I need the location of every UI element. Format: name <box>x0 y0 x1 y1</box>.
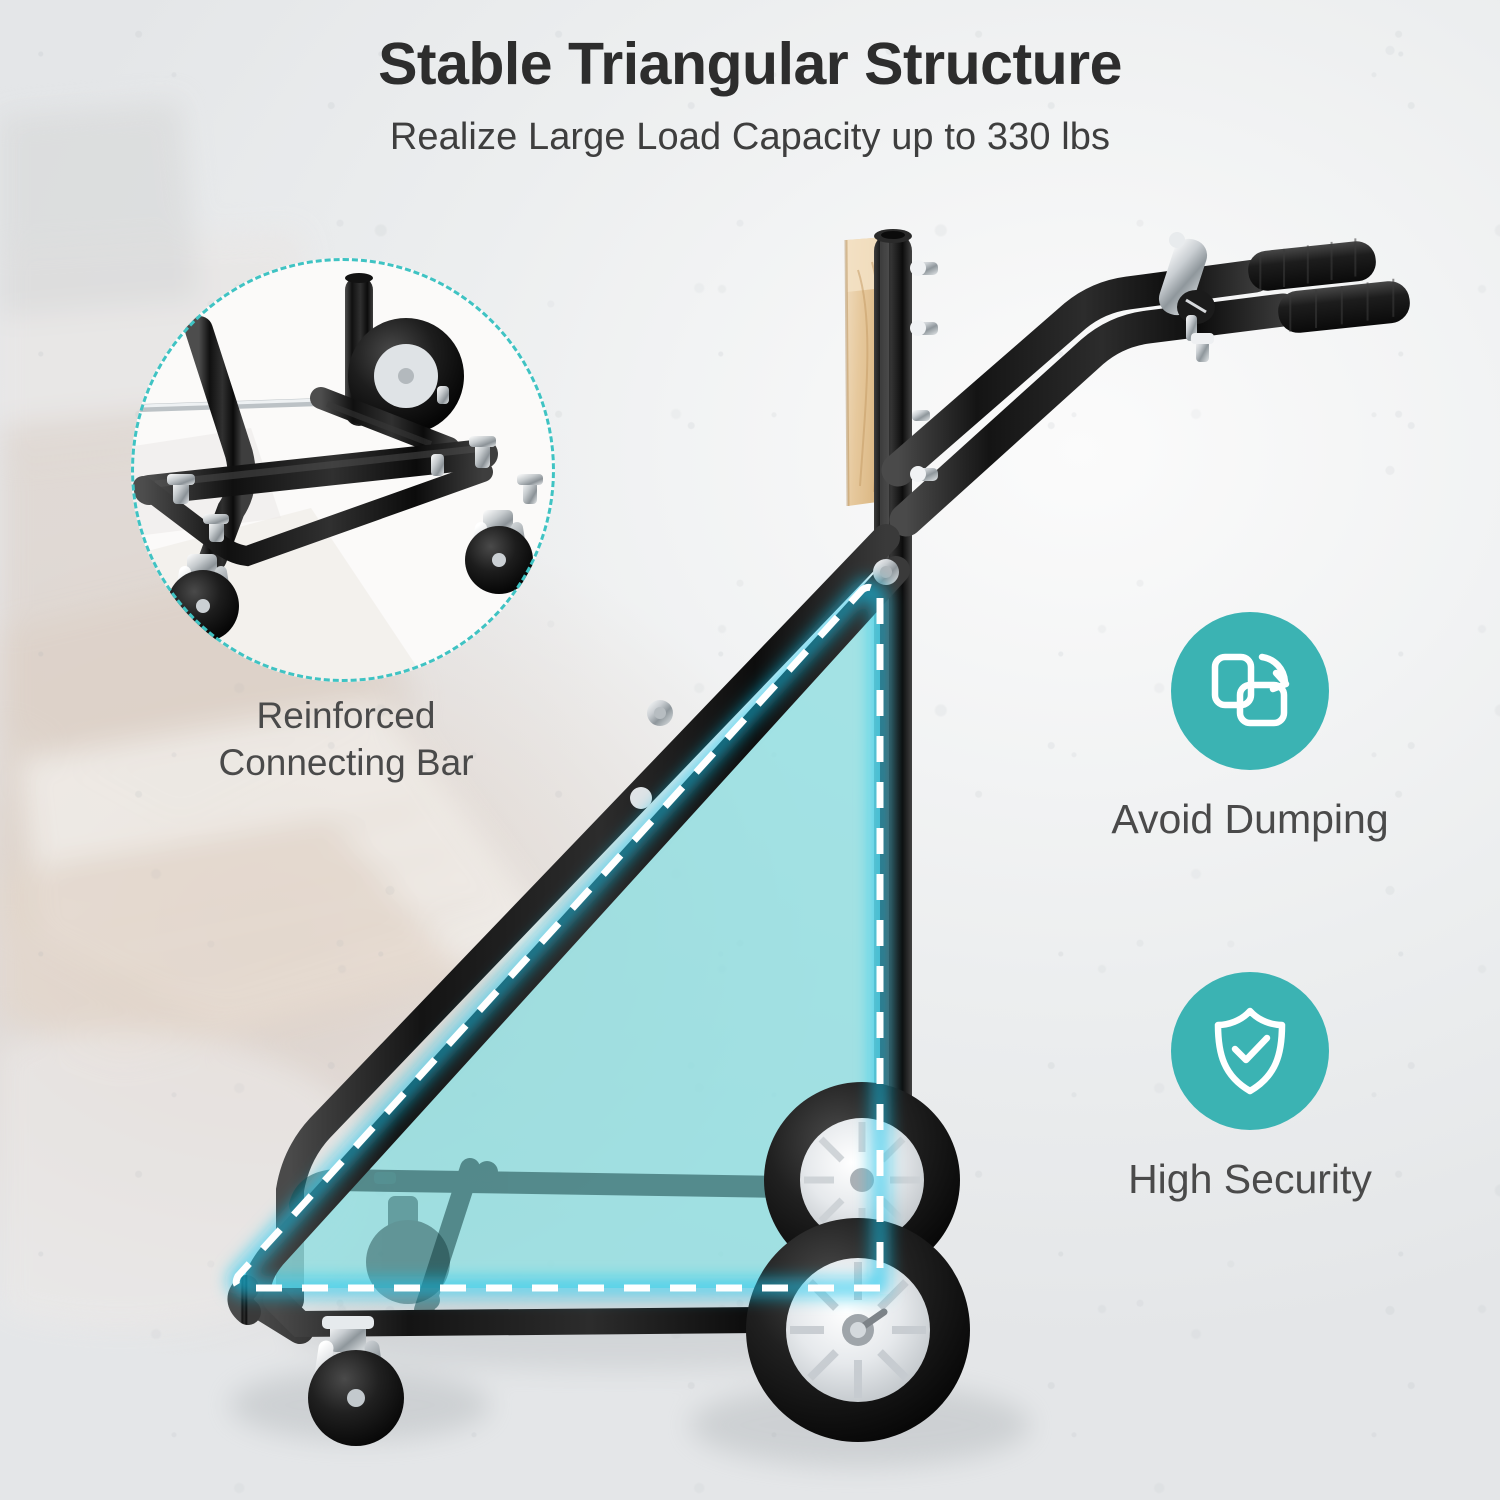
shield-check-icon <box>1201 1002 1299 1100</box>
feature-high-security: High Security <box>1050 972 1450 1203</box>
header-block: Stable Triangular Structure Realize Larg… <box>0 34 1500 159</box>
feature-avoid-dumping: Avoid Dumping <box>1050 612 1450 843</box>
large-wheel-front <box>746 1218 970 1442</box>
detail-caption-line1: Reinforced <box>86 692 606 739</box>
detail-inset <box>131 258 555 682</box>
feature-label: Avoid Dumping <box>1050 796 1450 843</box>
feature-icon-circle <box>1171 972 1329 1130</box>
page-title: Stable Triangular Structure <box>0 34 1500 96</box>
feature-label: High Security <box>1050 1156 1450 1203</box>
handlebar-bolt <box>1191 333 1214 362</box>
page-subtitle: Realize Large Load Capacity up to 330 lb… <box>0 116 1500 159</box>
infographic-canvas: Stable Triangular Structure Realize Larg… <box>0 0 1500 1500</box>
feature-icon-circle <box>1171 612 1329 770</box>
detail-caption-line2: Connecting Bar <box>86 739 606 786</box>
detail-inset-dashed-ring <box>131 258 555 682</box>
detail-inset-caption: Reinforced Connecting Bar <box>86 692 606 787</box>
handlebar <box>898 232 1412 520</box>
rotate-rectangles-icon <box>1202 643 1298 739</box>
